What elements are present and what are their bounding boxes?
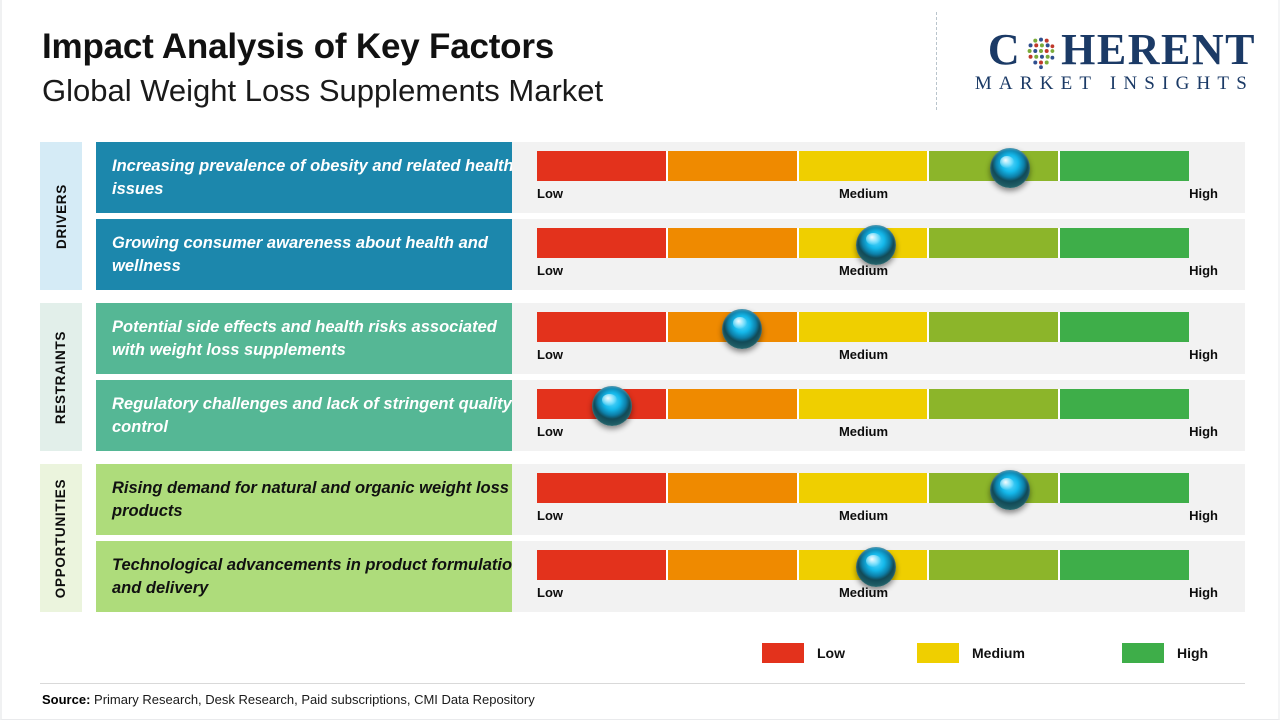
legend-swatch-medium xyxy=(917,643,959,663)
matrix-row: Growing consumer awareness about health … xyxy=(40,219,1245,290)
legend-item-high: High xyxy=(1122,643,1208,663)
gauge-segment-1 xyxy=(537,151,668,181)
legend-label-high: High xyxy=(1177,645,1208,661)
page-title: Impact Analysis of Key Factors xyxy=(42,26,922,68)
impact-marker[interactable] xyxy=(990,148,1030,188)
impact-marker[interactable] xyxy=(856,547,896,587)
matrix-row: Potential side effects and health risks … xyxy=(40,303,1245,374)
factor-box[interactable]: Technological advancements in product fo… xyxy=(96,541,542,612)
scale-label-medium: Medium xyxy=(839,585,888,600)
scale-label-high: High xyxy=(1189,508,1218,523)
factor-box[interactable]: Potential side effects and health risks … xyxy=(96,303,542,374)
scale-label-high: High xyxy=(1189,186,1218,201)
factor-label: Potential side effects and health risks … xyxy=(112,316,526,362)
gauge-segment-3 xyxy=(799,389,930,419)
logo-wordmark: C xyxy=(975,26,1256,74)
source-text: Primary Research, Desk Research, Paid su… xyxy=(94,692,535,707)
impact-gauge: LowMediumHigh xyxy=(512,219,1245,290)
gauge-scale-labels: LowMediumHigh xyxy=(537,263,1214,283)
gauge-bar xyxy=(537,312,1189,342)
gauge-bar xyxy=(537,151,1189,181)
factor-label: Technological advancements in product fo… xyxy=(112,554,526,600)
logo-divider xyxy=(936,12,937,110)
gauge-segment-4 xyxy=(929,228,1060,258)
gauge-segment-1 xyxy=(537,550,668,580)
legend-swatch-low xyxy=(762,643,804,663)
slide-canvas: Impact Analysis of Key Factors Global We… xyxy=(0,0,1280,720)
gauge-bar xyxy=(537,389,1189,419)
gauge-segment-2 xyxy=(668,550,799,580)
factor-box[interactable]: Increasing prevalence of obesity and rel… xyxy=(96,142,542,213)
legend-item-medium: Medium xyxy=(917,643,1025,663)
gauge-segment-1 xyxy=(537,228,668,258)
gauge-segment-5 xyxy=(1060,151,1189,181)
gauge-bar xyxy=(537,473,1189,503)
impact-gauge: LowMediumHigh xyxy=(512,142,1245,213)
scale-label-medium: Medium xyxy=(839,186,888,201)
scale-label-low: Low xyxy=(537,424,563,439)
factor-box[interactable]: Regulatory challenges and lack of string… xyxy=(96,380,542,451)
gauge-scale-labels: LowMediumHigh xyxy=(537,347,1214,367)
logo-inner: C xyxy=(975,26,1256,96)
impact-gauge: LowMediumHigh xyxy=(512,380,1245,451)
impact-matrix: DRIVERSIncreasing prevalence of obesity … xyxy=(40,142,1245,607)
gauge-segment-4 xyxy=(929,550,1060,580)
gauge-segment-2 xyxy=(668,473,799,503)
impact-gauge: LowMediumHigh xyxy=(512,303,1245,374)
gauge-segment-4 xyxy=(929,389,1060,419)
gauge-scale-labels: LowMediumHigh xyxy=(537,186,1214,206)
scale-label-low: Low xyxy=(537,263,563,278)
scale-label-medium: Medium xyxy=(839,263,888,278)
impact-marker[interactable] xyxy=(592,386,632,426)
gauge-segment-2 xyxy=(668,389,799,419)
factor-label: Growing consumer awareness about health … xyxy=(112,232,526,278)
scale-label-high: High xyxy=(1189,263,1218,278)
scale-label-low: Low xyxy=(537,347,563,362)
page-subtitle: Global Weight Loss Supplements Market xyxy=(42,70,922,112)
impact-marker[interactable] xyxy=(856,225,896,265)
matrix-row: Regulatory challenges and lack of string… xyxy=(40,380,1245,451)
scale-label-medium: Medium xyxy=(839,508,888,523)
matrix-row: Rising demand for natural and organic we… xyxy=(40,464,1245,535)
factor-box[interactable]: Rising demand for natural and organic we… xyxy=(96,464,542,535)
page-title-block: Impact Analysis of Key Factors Global We… xyxy=(42,26,922,112)
gauge-scale-labels: LowMediumHigh xyxy=(537,424,1214,444)
scale-label-low: Low xyxy=(537,186,563,201)
scale-label-high: High xyxy=(1189,347,1218,362)
gauge-segment-2 xyxy=(668,228,799,258)
gauge-scale-labels: LowMediumHigh xyxy=(537,585,1214,605)
gauge-segment-3 xyxy=(799,312,930,342)
matrix-row: Technological advancements in product fo… xyxy=(40,541,1245,612)
legend: Low Medium High xyxy=(762,643,1212,671)
scale-label-high: High xyxy=(1189,585,1218,600)
gauge-segment-2 xyxy=(668,151,799,181)
dotted-globe-icon xyxy=(1022,33,1060,71)
legend-item-low: Low xyxy=(762,643,845,663)
gauge-segment-5 xyxy=(1060,312,1189,342)
footer-divider xyxy=(40,683,1245,684)
scale-label-low: Low xyxy=(537,508,563,523)
logo-letter-c: C xyxy=(988,26,1021,74)
scale-label-low: Low xyxy=(537,585,563,600)
source-label: Source: xyxy=(42,692,90,707)
scale-label-medium: Medium xyxy=(839,424,888,439)
factor-label: Increasing prevalence of obesity and rel… xyxy=(112,155,526,201)
scale-label-medium: Medium xyxy=(839,347,888,362)
logo-tagline: MARKET INSIGHTS xyxy=(975,72,1256,96)
impact-marker[interactable] xyxy=(990,470,1030,510)
gauge-segment-5 xyxy=(1060,473,1189,503)
factor-label: Rising demand for natural and organic we… xyxy=(112,477,526,523)
gauge-segment-3 xyxy=(799,473,930,503)
impact-gauge: LowMediumHigh xyxy=(512,464,1245,535)
gauge-segment-1 xyxy=(537,312,668,342)
gauge-segment-5 xyxy=(1060,389,1189,419)
legend-swatch-high xyxy=(1122,643,1164,663)
scale-label-high: High xyxy=(1189,424,1218,439)
impact-gauge: LowMediumHigh xyxy=(512,541,1245,612)
brand-logo: C xyxy=(926,12,1256,112)
gauge-segment-5 xyxy=(1060,550,1189,580)
matrix-row: Increasing prevalence of obesity and rel… xyxy=(40,142,1245,213)
gauge-segment-1 xyxy=(537,473,668,503)
source-note: Source: Primary Research, Desk Research,… xyxy=(42,692,535,707)
legend-label-low: Low xyxy=(817,645,845,661)
gauge-segment-3 xyxy=(799,151,930,181)
factor-box[interactable]: Growing consumer awareness about health … xyxy=(96,219,542,290)
impact-marker[interactable] xyxy=(722,309,762,349)
gauge-scale-labels: LowMediumHigh xyxy=(537,508,1214,528)
gauge-segment-4 xyxy=(929,312,1060,342)
gauge-segment-5 xyxy=(1060,228,1189,258)
legend-label-medium: Medium xyxy=(972,645,1025,661)
logo-wordmark-rest: HERENT xyxy=(1061,26,1256,74)
factor-label: Regulatory challenges and lack of string… xyxy=(112,393,526,439)
